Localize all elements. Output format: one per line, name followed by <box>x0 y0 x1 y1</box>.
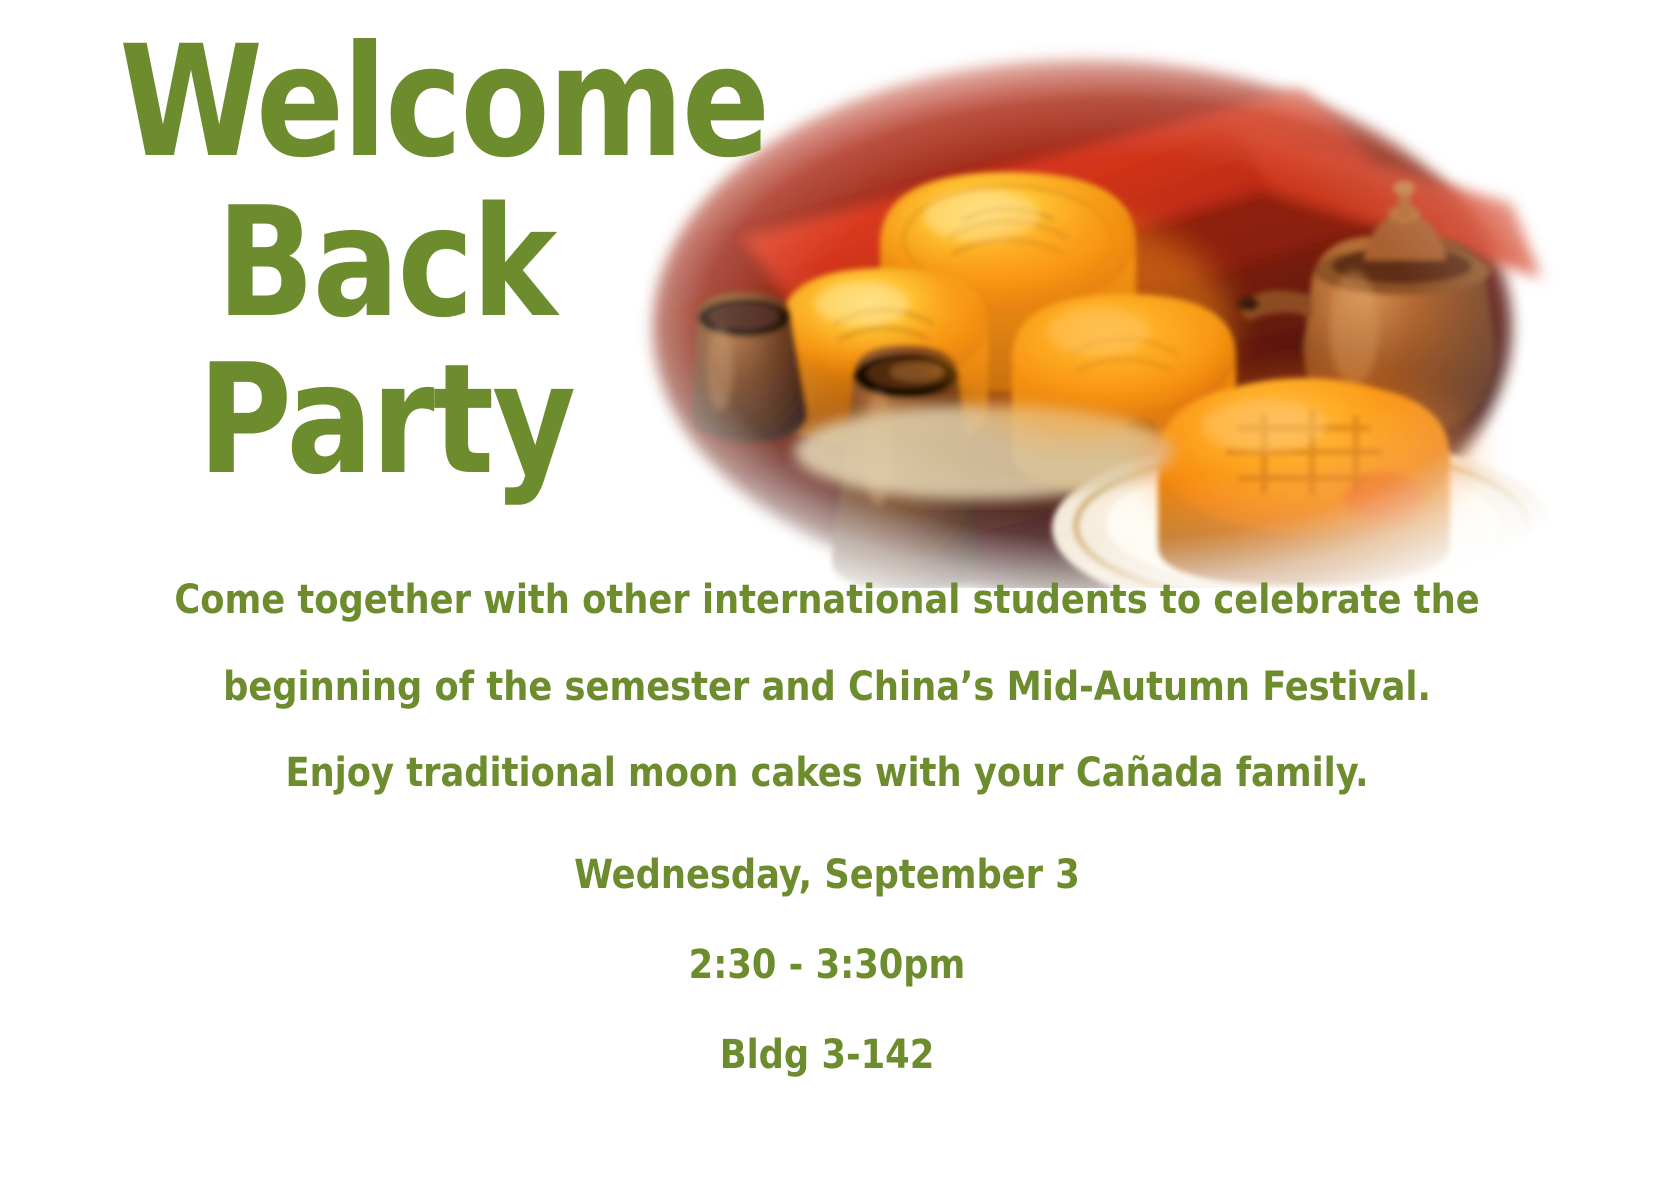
poster-title: Welcome Back Party <box>96 28 676 495</box>
back-plate <box>794 404 1174 500</box>
mooncake-center <box>1012 294 1236 492</box>
event-date: Wednesday, September 3 <box>17 855 1638 895</box>
description-line-3: Enjoy traditional moon cakes with your C… <box>17 753 1638 793</box>
red-tray <box>742 88 1542 378</box>
title-line-welcome: Welcome <box>119 28 659 179</box>
title-line-party: Party <box>113 346 658 495</box>
description-block: Come together with other international s… <box>0 580 1654 793</box>
description-line-2: beginning of the semester and China’s Mi… <box>17 667 1638 707</box>
white-plate <box>1052 436 1552 588</box>
event-location: Bldg 3-142 <box>17 1035 1638 1075</box>
teacup-front <box>832 346 980 588</box>
teapot <box>1237 181 1494 434</box>
teacup-left <box>692 292 806 442</box>
description-line-1: Come together with other international s… <box>17 580 1638 620</box>
event-time: 2:30 - 3:30pm <box>17 945 1638 985</box>
event-details-block: Wednesday, September 3 2:30 - 3:30pm Bld… <box>0 855 1654 1075</box>
mooncake-top <box>880 172 1136 392</box>
mooncake-left <box>780 268 988 446</box>
mooncake-front-plate <box>1158 378 1450 586</box>
title-line-back: Back <box>113 189 658 338</box>
poster-canvas: Welcome Back Party Come together with ot… <box>0 0 1654 1178</box>
